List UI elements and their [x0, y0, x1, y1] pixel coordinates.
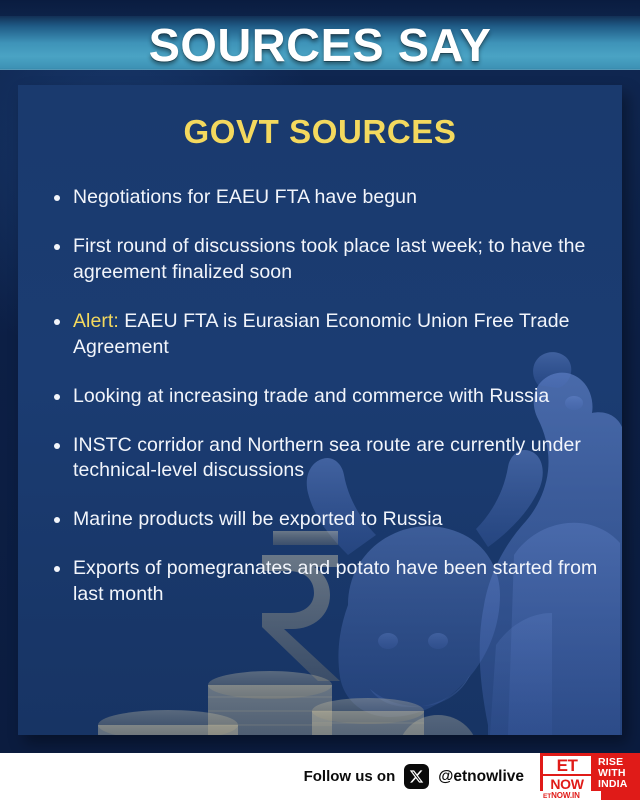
- tagline-line-3: INDIA: [598, 778, 628, 790]
- bullet-dot-icon: [54, 443, 60, 449]
- now-text: NOW: [543, 776, 591, 791]
- card-title: GOVT SOURCES: [18, 113, 622, 151]
- footer-content: Follow us on @etnowlive ET NOW RISE WITH: [304, 753, 640, 800]
- follow-us-label: Follow us on: [304, 768, 396, 785]
- list-item-text: Negotiations for EAEU FTA have begun: [73, 186, 417, 208]
- footer-bar: Follow us on @etnowlive ET NOW RISE WITH: [0, 753, 640, 800]
- etnow-tagline: RISE WITH INDIA: [594, 753, 640, 791]
- list-item: Looking at increasing trade and commerce…: [38, 384, 622, 410]
- list-item: Negotiations for EAEU FTA have begun: [38, 185, 622, 211]
- bullet-list: Negotiations for EAEU FTA have begun Fir…: [38, 185, 622, 608]
- list-item: First round of discussions took place la…: [38, 234, 622, 286]
- bullet-dot-icon: [54, 195, 60, 201]
- list-item: Exports of pomegranates and potato have …: [38, 556, 622, 608]
- list-item-text: EAEU FTA is Eurasian Economic Union Free…: [73, 310, 570, 358]
- banner-title: SOURCES SAY: [0, 16, 640, 74]
- list-item-text: First round of discussions took place la…: [73, 235, 585, 283]
- etnow-logo-wordmark: ET NOW: [540, 753, 594, 791]
- etnow-url: ETNOW.IN: [540, 791, 601, 800]
- social-handle[interactable]: @etnowlive: [438, 768, 524, 786]
- etnow-url-prefix: ET: [543, 793, 551, 800]
- bullet-dot-icon: [54, 244, 60, 250]
- content-card: GOVT SOURCES Negotiations for EAEU FTA h…: [18, 85, 622, 735]
- list-item-text: INSTC corridor and Northern sea route ar…: [73, 434, 581, 482]
- list-item-text: Looking at increasing trade and commerce…: [73, 385, 549, 407]
- list-item-alert: Alert: EAEU FTA is Eurasian Economic Uni…: [38, 309, 622, 361]
- list-item: Marine products will be exported to Russ…: [38, 507, 622, 533]
- list-item: INSTC corridor and Northern sea route ar…: [38, 433, 622, 485]
- bullet-dot-icon: [54, 566, 60, 572]
- bullet-dot-icon: [54, 319, 60, 325]
- bullet-dot-icon: [54, 394, 60, 400]
- et-text: ET: [543, 756, 591, 774]
- etnow-url-main: NOW.IN: [551, 791, 580, 800]
- list-item-text: Exports of pomegranates and potato have …: [73, 557, 597, 605]
- bullet-dot-icon: [54, 517, 60, 523]
- etnow-logo[interactable]: ET NOW RISE WITH INDIA ETNOW.IN: [540, 753, 640, 800]
- x-twitter-icon[interactable]: [404, 764, 429, 789]
- list-item-text: Marine products will be exported to Russ…: [73, 508, 443, 530]
- alert-label: Alert:: [73, 310, 119, 332]
- etnow-logo-main: ET NOW RISE WITH INDIA: [540, 753, 640, 791]
- sources-say-graphic: SOURCES SAY: [0, 0, 640, 800]
